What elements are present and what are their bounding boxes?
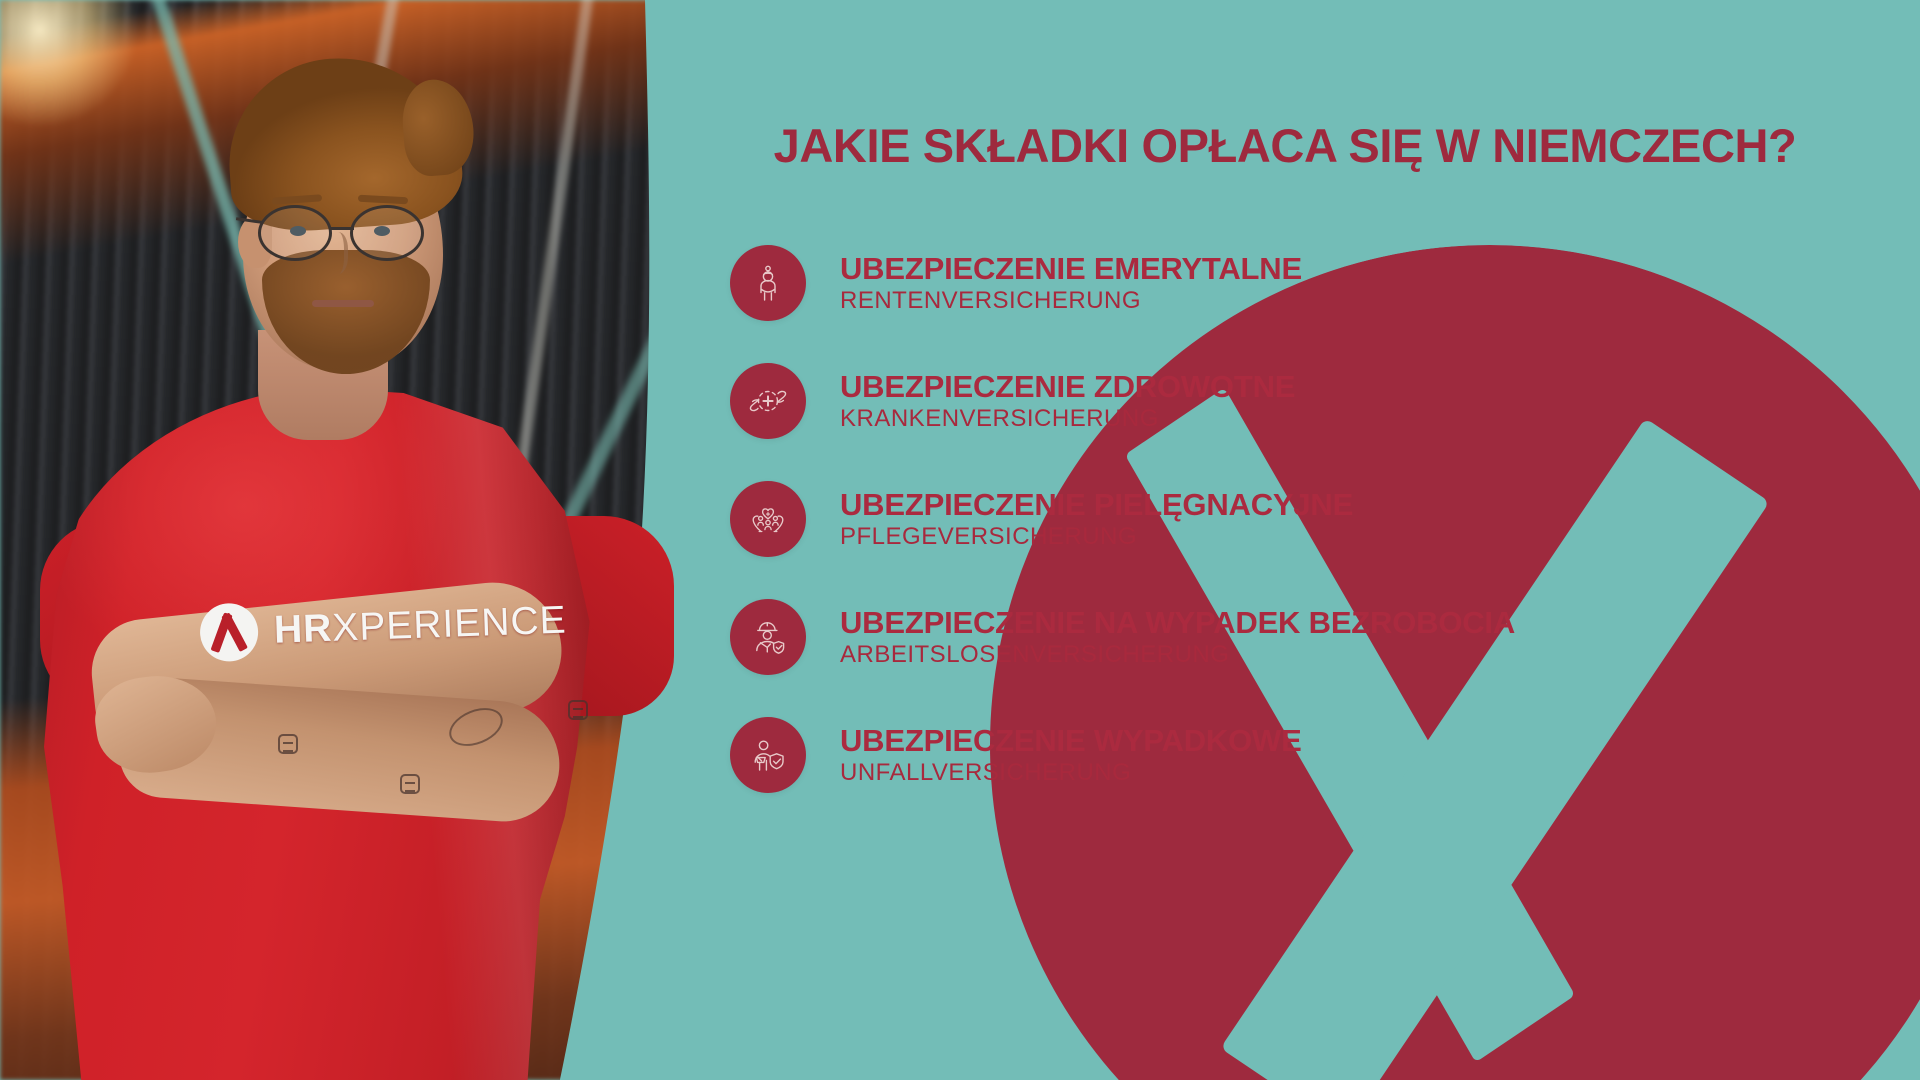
list-item-labels: UBEZPIECZENIE ZDROWOTNE KRANKENVERSICHER… (840, 370, 1295, 433)
tattoo-mark (568, 700, 588, 720)
list-item-label-de: RENTENVERSICHERUNG (840, 288, 1302, 314)
list-item-labels: UBEZPIECZENIE EMERYTALNE RENTENVERSICHER… (840, 252, 1302, 315)
list-item-label-pl: UBEZPIECZENIE EMERYTALNE (840, 252, 1302, 285)
list-item-label-de: UNFALLVERSICHERUNG (840, 760, 1302, 786)
tattoo-mark (278, 734, 298, 754)
list-item: UBEZPIECZENIE PIELĘGNACYJNE PFLEGEVERSIC… (730, 481, 1890, 557)
injured-person-shield-icon (730, 717, 806, 793)
page-title: JAKIE SKŁADKI OPŁACA SIĘ W NIEMCZECH? (730, 118, 1840, 173)
list-item-label-pl: UBEZPIECZENIE PIELĘGNACYJNE (840, 488, 1353, 521)
elderly-person-icon (730, 245, 806, 321)
list-item: UBEZPIECZENIE WYPADKOWE UNFALLVERSICHERU… (730, 717, 1890, 793)
glasses-bridge (330, 227, 354, 230)
list-item-labels: UBEZPIECZENIE PIELĘGNACYJNE PFLEGEVERSIC… (840, 488, 1353, 551)
tattoo-mark (400, 774, 420, 794)
brand-wordmark-bold: HR (273, 607, 333, 652)
person-figure: HRXPERIENCE (0, 0, 700, 1080)
list-item: UBEZPIECZENIE NA WYPADEK BEZROBOCIA ARBE… (730, 599, 1890, 675)
glasses-lens-left (258, 205, 332, 261)
hands-heart-family-icon (730, 481, 806, 557)
list-item: UBEZPIECZENIE ZDROWOTNE KRANKENVERSICHER… (730, 363, 1890, 439)
mouth (312, 300, 374, 307)
list-item-label-pl: UBEZPIECZENIE ZDROWOTNE (840, 370, 1295, 403)
list-item-label-de: ARBEITSLOSENVERSICHERUNG (840, 642, 1515, 668)
eyeglasses (258, 205, 458, 265)
list-item-labels: UBEZPIECZENIE NA WYPADEK BEZROBOCIA ARBE… (840, 606, 1515, 669)
list-item-label-de: PFLEGEVERSICHERUNG (840, 524, 1353, 550)
list-item-label-pl: UBEZPIECZENIE WYPADKOWE (840, 724, 1302, 757)
hands-medical-cross-icon (730, 363, 806, 439)
x-mark-circle-icon (199, 602, 259, 662)
list-item-labels: UBEZPIECZENIE WYPADKOWE UNFALLVERSICHERU… (840, 724, 1302, 787)
contributions-list: UBEZPIECZENIE EMERYTALNE RENTENVERSICHER… (730, 245, 1890, 793)
list-item: UBEZPIECZENIE EMERYTALNE RENTENVERSICHER… (730, 245, 1890, 321)
poster-canvas: HRXPERIENCE JAKIE SKŁADKI OPŁACA SIĘ W N… (0, 0, 1920, 1080)
worker-helmet-shield-icon (730, 599, 806, 675)
content-column: JAKIE SKŁADKI OPŁACA SIĘ W NIEMCZECH? (700, 0, 1920, 1080)
list-item-label-pl: UBEZPIECZENIE NA WYPADEK BEZROBOCIA (840, 606, 1515, 639)
list-item-label-de: KRANKENVERSICHERUNG (840, 406, 1295, 432)
glasses-lens-right (350, 205, 424, 261)
brand-wordmark: HRXPERIENCE (273, 599, 567, 653)
brand-wordmark-light: XPERIENCE (332, 599, 568, 650)
